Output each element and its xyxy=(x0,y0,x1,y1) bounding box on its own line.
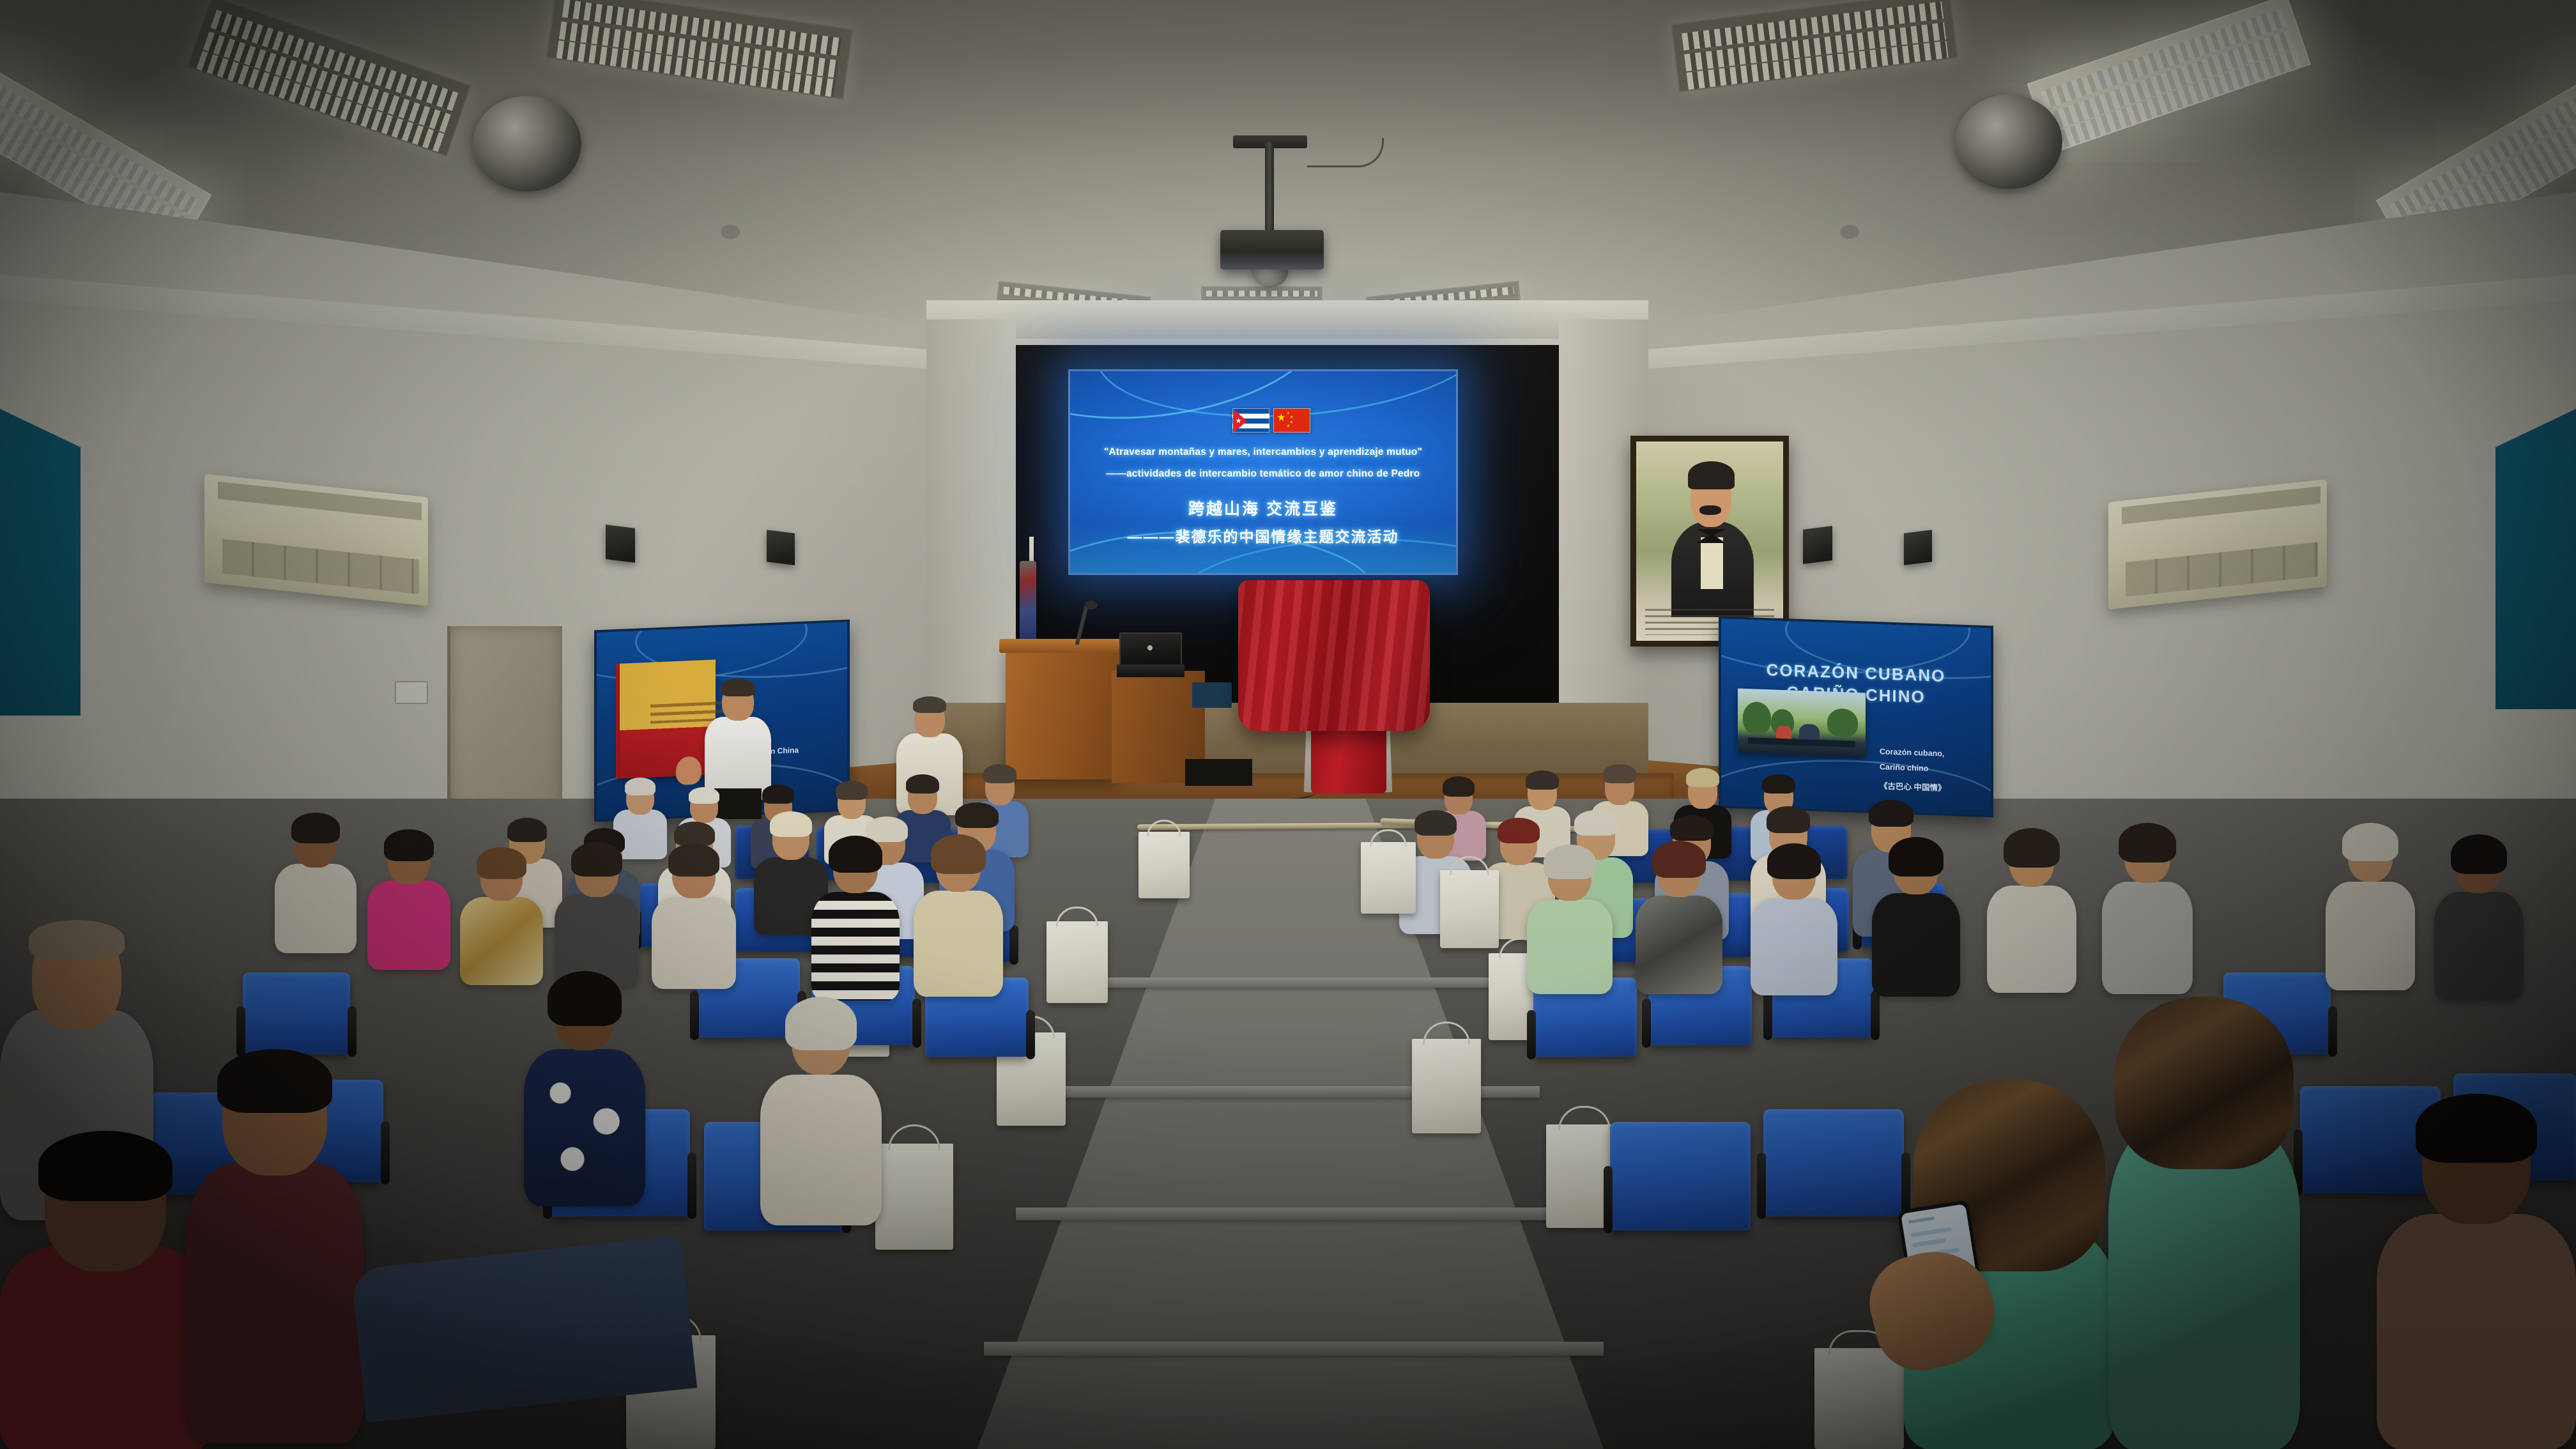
audience-member xyxy=(1987,828,2076,993)
audience-member xyxy=(1527,845,1613,993)
podium-top-surface xyxy=(999,639,1127,653)
smoke-detector xyxy=(721,225,740,239)
audience-member xyxy=(367,829,450,967)
smoke-detector xyxy=(1840,225,1859,239)
auditorium-seat[interactable] xyxy=(1610,1122,1751,1230)
audience-member xyxy=(760,997,882,1220)
audience-member-foreground xyxy=(0,1137,211,1449)
gift-tote-bag[interactable] xyxy=(1440,870,1499,948)
audience-member xyxy=(1751,843,1837,995)
auditorium-seat[interactable] xyxy=(243,972,350,1054)
gift-tote-bag[interactable] xyxy=(1412,1039,1481,1133)
right-banner-subtext-3: 《古巴心 中国情》 xyxy=(1880,779,1945,793)
wall-speaker xyxy=(1904,530,1932,565)
ceiling-dome-speaker xyxy=(1955,95,2062,189)
gift-tote-bag[interactable] xyxy=(1046,921,1108,1003)
cuban-flag-furled xyxy=(1020,561,1036,652)
proscenium-left xyxy=(926,319,1016,741)
portrait-canvas xyxy=(1636,441,1783,641)
teal-wall-panel xyxy=(2495,409,2576,709)
laptop-logo xyxy=(1147,645,1153,650)
china-flag-icon xyxy=(1273,408,1310,433)
portrait-moustache xyxy=(1699,505,1722,516)
audience-member xyxy=(2102,823,2193,994)
audience-member-foreground xyxy=(2108,997,2300,1449)
audience-member-foreground xyxy=(2377,1099,2576,1449)
air-conditioner-unit xyxy=(2108,479,2327,609)
book-cover-portrait xyxy=(676,756,701,785)
av-equipment-box xyxy=(1185,759,1252,786)
aisle-step xyxy=(1073,977,1514,988)
aisle-step xyxy=(1016,1207,1572,1220)
teal-wall-panel xyxy=(0,409,80,716)
projection-screen: "Atravesar montañas y mares, intercambio… xyxy=(1068,369,1458,575)
gift-tote-bag[interactable] xyxy=(1361,842,1416,914)
exit-door[interactable] xyxy=(447,626,562,818)
red-draped-unveiling-object xyxy=(1238,580,1430,731)
audience-member xyxy=(2326,823,2415,990)
auditorium-seat[interactable] xyxy=(1763,1109,1904,1216)
projector-mount-pole xyxy=(1265,142,1274,238)
proscenium-header xyxy=(926,300,1648,339)
gift-tote-bag[interactable] xyxy=(1814,1348,1904,1449)
audience-member-foreground xyxy=(185,1054,364,1449)
slide-spanish-title: "Atravesar montañas y mares, intercambio… xyxy=(1070,447,1456,458)
podium xyxy=(1006,645,1121,779)
book-cover-image xyxy=(620,659,716,778)
cuba-flag-icon xyxy=(1232,408,1269,433)
projector-cable xyxy=(1307,138,1384,167)
right-banner-subtext-1: Corazón cubano, xyxy=(1880,747,1944,758)
portrait-shirt xyxy=(1701,537,1723,589)
wall-speaker xyxy=(1803,526,1832,564)
audience-member xyxy=(555,842,639,985)
door-sign xyxy=(395,681,428,704)
slide-chinese-title: 跨越山海 交流互鉴 xyxy=(1070,496,1456,519)
audience-member xyxy=(275,813,356,952)
auditorium-photo: "Atravesar montañas y mares, intercambio… xyxy=(0,0,2576,1449)
portrait-hair xyxy=(1688,461,1735,489)
audience-member xyxy=(652,843,736,988)
microphone-icon xyxy=(1085,601,1098,609)
banner-photo xyxy=(1738,689,1866,757)
wall-speaker xyxy=(767,530,795,565)
audience-member xyxy=(811,836,900,999)
audience-member xyxy=(2434,834,2524,1000)
right-banner-subtext-2: Cariño chino xyxy=(1880,762,1928,773)
aisle-step xyxy=(984,1342,1604,1356)
audience-member xyxy=(524,971,645,1201)
gift-tote-bag[interactable] xyxy=(1138,832,1190,898)
av-equipment-box xyxy=(1192,682,1232,708)
audience-member xyxy=(460,847,543,984)
framed-portrait xyxy=(1630,436,1789,647)
laptop-keyboard xyxy=(1117,664,1184,677)
ceiling-dome-speaker xyxy=(473,96,581,192)
audience-member xyxy=(914,834,1003,994)
wall-speaker xyxy=(606,525,635,563)
slide-chinese-subtitle: ———裴德乐的中国情缘主题交流活动 xyxy=(1070,525,1456,546)
audience-member xyxy=(1872,837,1960,997)
projector xyxy=(1220,230,1324,270)
gift-tote-bag[interactable] xyxy=(875,1144,953,1250)
slide-spanish-subtitle: ——actividades de intercambio temático de… xyxy=(1070,468,1456,480)
audience-member xyxy=(1636,841,1722,994)
